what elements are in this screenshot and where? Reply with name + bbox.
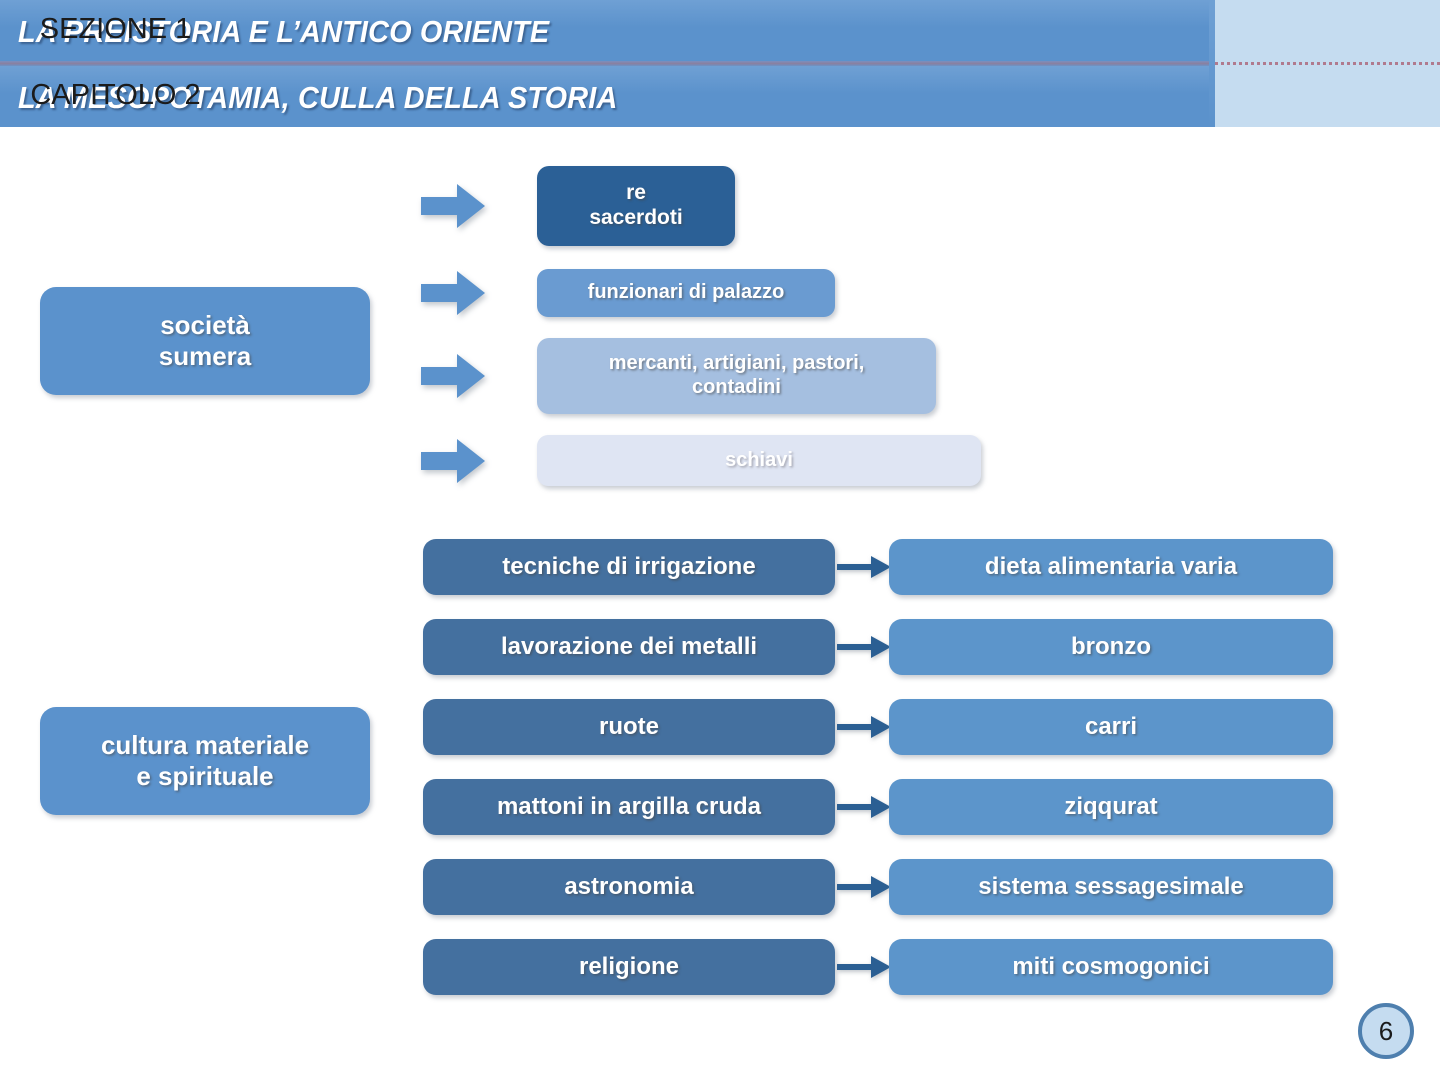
page-number-badge: 6	[1358, 1003, 1414, 1059]
culture-cause-box: tecniche di irrigazione	[423, 539, 835, 595]
line-arrow-right-icon	[837, 954, 891, 980]
line-arrow-right-icon	[837, 554, 891, 580]
category-box-cultura-materiale-e-spirituale: cultura materiale e spirituale	[40, 707, 370, 815]
culture-cause-box: lavorazione dei metalli	[423, 619, 835, 675]
line-arrow-right-icon	[837, 794, 891, 820]
culture-cause-box: ruote	[423, 699, 835, 755]
culture-effect-box: miti cosmogonici	[889, 939, 1333, 995]
culture-cause-box: religione	[423, 939, 835, 995]
culture-effect-box: bronzo	[889, 619, 1333, 675]
culture-effect-box: dieta alimentaria varia	[889, 539, 1333, 595]
material-spiritual-culture-diagram: cultura materiale e spirituale tecniche …	[0, 0, 1440, 1080]
culture-cause-box: astronomia	[423, 859, 835, 915]
line-arrow-right-icon	[837, 714, 891, 740]
culture-effect-box: carri	[889, 699, 1333, 755]
culture-effect-box: sistema sessagesimale	[889, 859, 1333, 915]
culture-cause-box: mattoni in argilla cruda	[423, 779, 835, 835]
line-arrow-right-icon	[837, 874, 891, 900]
line-arrow-right-icon	[837, 634, 891, 660]
culture-effect-box: ziqqurat	[889, 779, 1333, 835]
